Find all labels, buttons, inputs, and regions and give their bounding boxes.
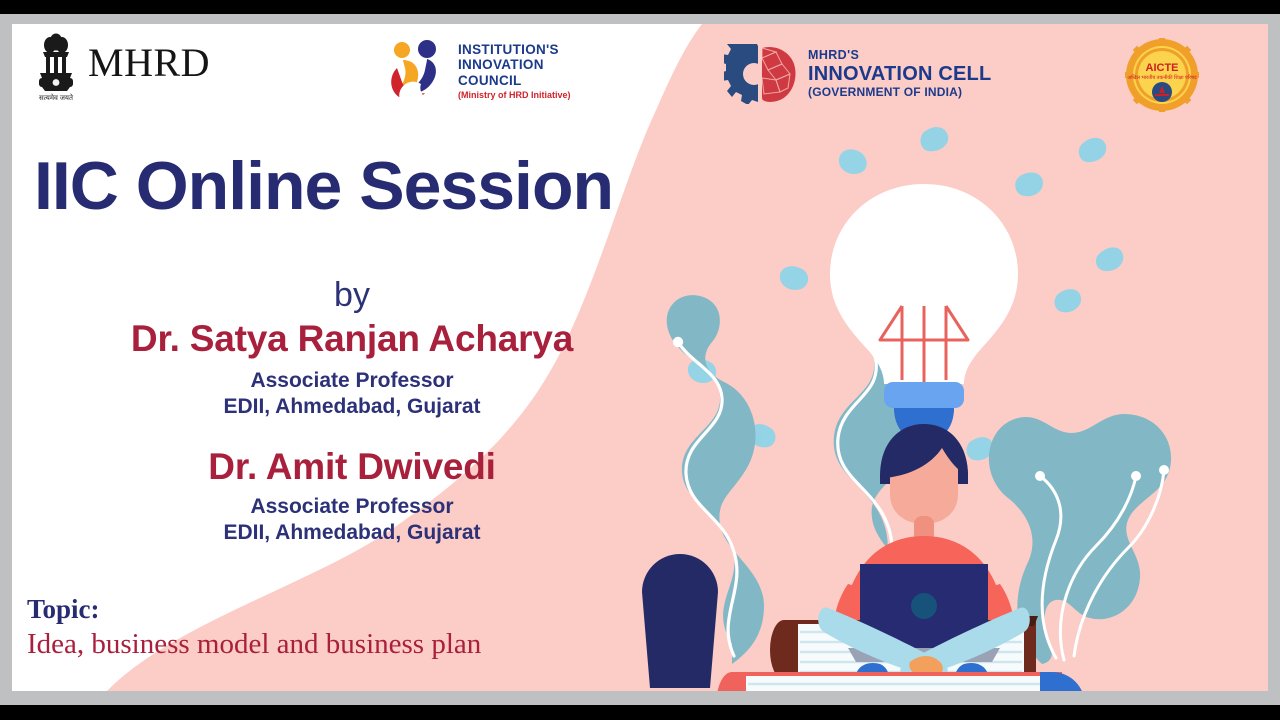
logo-iic: INSTITUTION'S INNOVATION COUNCIL (Minist… <box>387 38 571 104</box>
video-player-stage: सत्यमेव जयते MHRD INSTITUTION'S INNOVATI… <box>0 0 1280 720</box>
navy-vase <box>642 554 718 688</box>
aicte-hindi: अखिल भारतीय तकनीकी शिक्षा परिषद <box>1127 74 1197 81</box>
presentation-slide: सत्यमेव जयते MHRD INSTITUTION'S INNOVATI… <box>12 24 1268 691</box>
aicte-acronym: AICTE <box>1146 62 1179 74</box>
speaker-1-name: Dr. Satya Ranjan Acharya <box>12 320 692 357</box>
letterbox-top <box>0 0 1280 14</box>
topic-text: Idea, business model and business plan <box>27 630 481 659</box>
cell-line2: INNOVATION CELL <box>808 63 991 86</box>
iic-subtitle: (Ministry of HRD Initiative) <box>458 90 571 100</box>
speaker-2-designation: Associate Professor <box>12 494 692 520</box>
aicte-gear-seal-icon: AICTE अखिल भारतीय तकनीकी शिक्षा परिषद <box>1125 38 1199 112</box>
byline: by <box>12 278 692 312</box>
logo-header-row: सत्यमेव जयते MHRD INSTITUTION'S INNOVATI… <box>12 24 1268 124</box>
letterbox-bottom <box>0 705 1280 720</box>
speaker-2-name: Dr. Amit Dwivedi <box>12 448 692 485</box>
logo-mhrd: सत्यमेव जयते MHRD <box>34 32 210 104</box>
speaker-1-details: Associate Professor EDII, Ahmedabad, Guj… <box>12 368 692 419</box>
iic-line2: INNOVATION <box>458 57 571 72</box>
mhrd-motto: सत्यमेव जयते <box>39 93 74 102</box>
ashoka-emblem-icon: सत्यमेव जयते <box>34 32 78 104</box>
page-title: IIC Online Session <box>34 152 613 220</box>
mhrd-wordmark: MHRD <box>88 43 210 93</box>
speaker-1-designation: Associate Professor <box>12 368 692 394</box>
speaker-2-affiliation: EDII, Ahmedabad, Gujarat <box>12 520 692 546</box>
gear-brain-icon <box>724 44 798 104</box>
speaker-2-details: Associate Professor EDII, Ahmedabad, Guj… <box>12 494 692 545</box>
iic-people-icon <box>387 38 449 104</box>
iic-line1: INSTITUTION'S <box>458 42 571 57</box>
iic-wordmark: INSTITUTION'S INNOVATION COUNCIL (Minist… <box>458 42 571 99</box>
book-lower <box>716 672 1085 691</box>
speaker-1-affiliation: EDII, Ahmedabad, Gujarat <box>12 394 692 420</box>
innovation-cell-wordmark: MHRD'S INNOVATION CELL (GOVERNMENT OF IN… <box>808 48 991 99</box>
cell-line3: (GOVERNMENT OF INDIA) <box>808 86 991 100</box>
topic-label: Topic: <box>27 596 100 623</box>
logo-innovation-cell: MHRD'S INNOVATION CELL (GOVERNMENT OF IN… <box>724 44 991 104</box>
illustration-person-with-laptop <box>612 84 1268 691</box>
cell-line1: MHRD'S <box>808 48 991 62</box>
iic-line3: COUNCIL <box>458 73 571 88</box>
